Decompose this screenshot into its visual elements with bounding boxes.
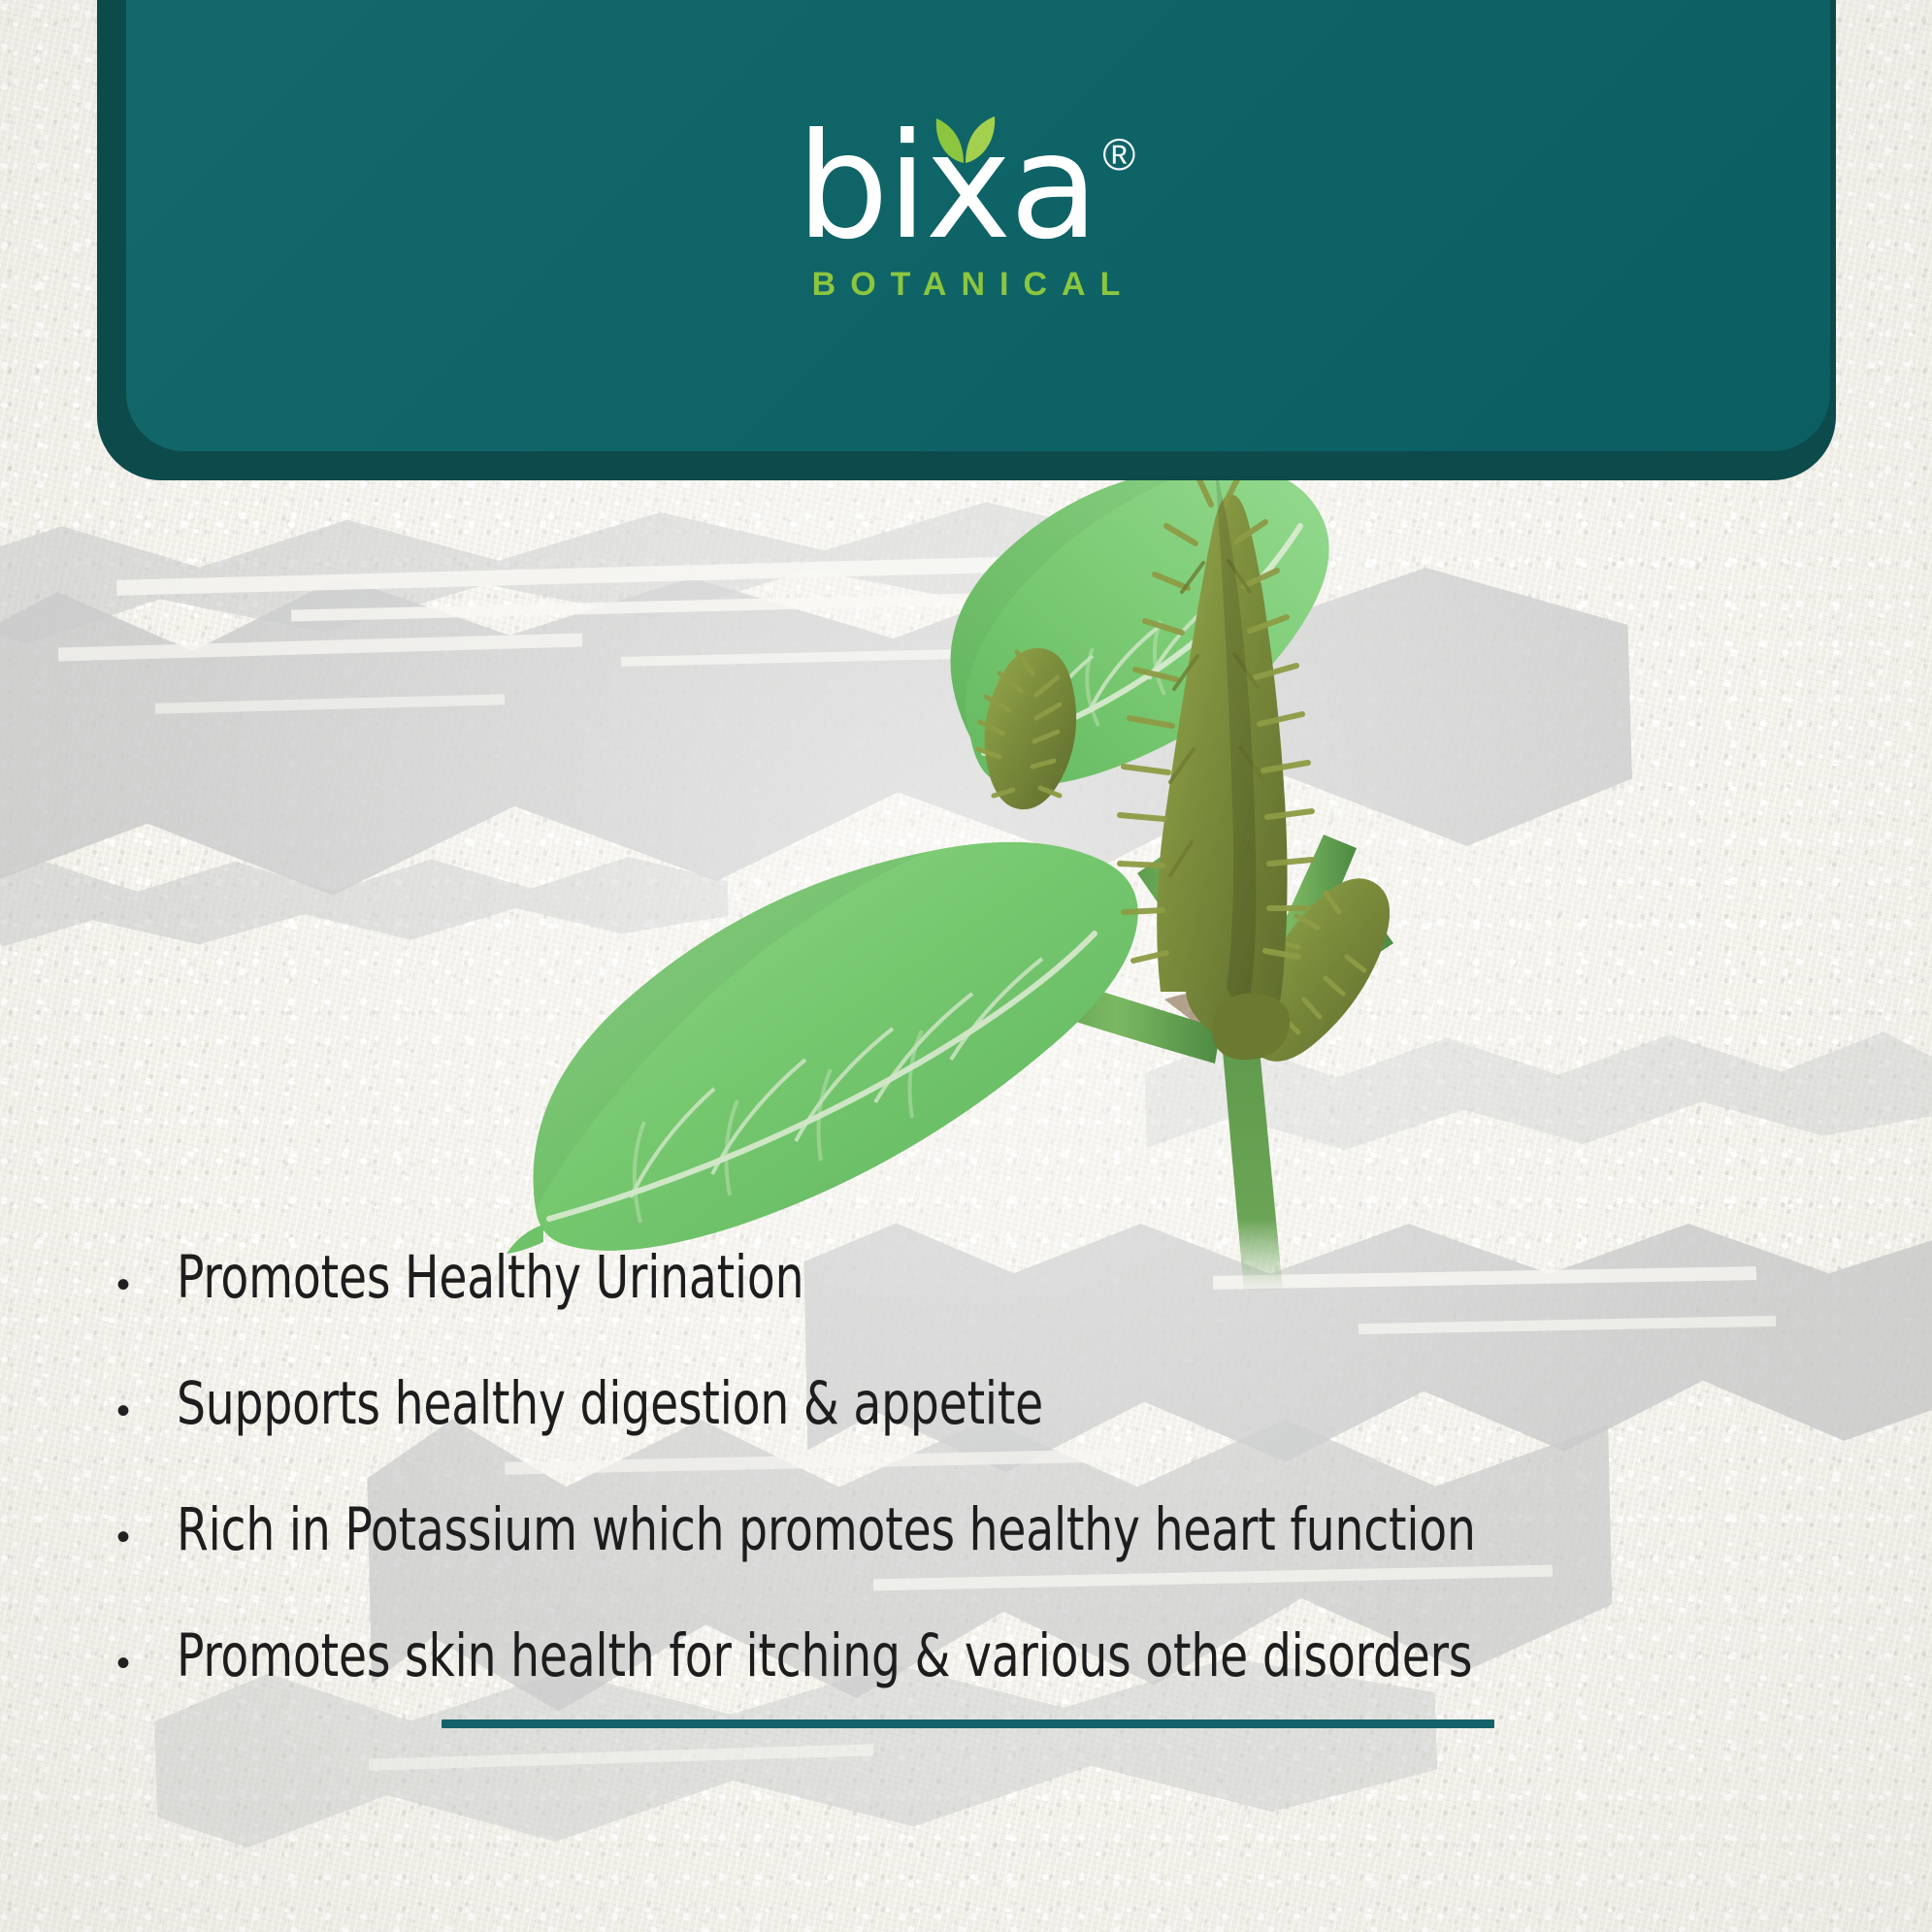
benefit-text: Promotes skin health for itching & vario…: [177, 1625, 1472, 1687]
bullet-dot-icon: •: [109, 1392, 177, 1430]
logo-wordmark-row: bixa ®: [797, 115, 1135, 260]
list-item: • Rich in Potassium which promotes healt…: [109, 1499, 1855, 1561]
registered-trademark-icon: ®: [1102, 132, 1135, 177]
product-benefits-poster: bixa ® BOTANICAL • Promotes Healthy Urin…: [0, 0, 1932, 1932]
benefit-text: Promotes Healthy Urination: [177, 1247, 803, 1309]
bullet-dot-icon: •: [109, 1644, 177, 1683]
bullet-dot-icon: •: [109, 1265, 177, 1304]
benefits-list: • Promotes Healthy Urination • Supports …: [109, 1247, 1855, 1752]
list-item: • Promotes Healthy Urination: [109, 1247, 1855, 1309]
bullet-dot-icon: •: [109, 1518, 177, 1556]
brand-logo: bixa ® BOTANICAL: [0, 115, 1932, 304]
list-item: • Promotes skin health for itching & var…: [109, 1625, 1855, 1687]
footer-divider: [442, 1719, 1494, 1728]
list-item: • Supports healthy digestion & appetite: [109, 1373, 1855, 1435]
benefit-text: Supports healthy digestion & appetite: [177, 1373, 1043, 1435]
sprout-leaf-icon: [934, 109, 997, 165]
benefit-text: Rich in Potassium which promotes healthy…: [177, 1499, 1476, 1561]
